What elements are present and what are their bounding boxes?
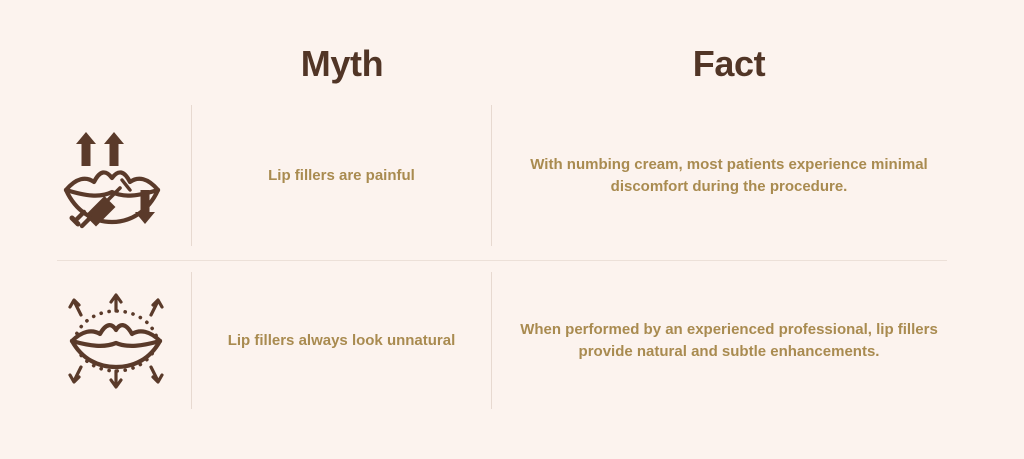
myth-vs-fact-infographic: Myth Fact (0, 0, 1024, 459)
column-header-myth: Myth (192, 44, 492, 84)
fact-text: With numbing cream, most patients experi… (514, 154, 944, 198)
column-header-fact: Fact (492, 44, 966, 84)
fact-cell: When performed by an experienced profess… (492, 272, 966, 409)
myth-cell: Lip fillers always look unnatural (192, 272, 491, 409)
table-row: Lip fillers always look unnatural When p… (0, 272, 1024, 409)
myth-text: Lip fillers are painful (222, 165, 462, 187)
table-header: Myth Fact (0, 44, 1024, 102)
table-row: Lip fillers are painful With numbing cre… (0, 105, 1024, 246)
myth-cell: Lip fillers are painful (192, 105, 491, 246)
row-icon-cell (40, 105, 191, 246)
divider-horizontal-rows (57, 260, 947, 261)
fact-text: When performed by an experienced profess… (514, 319, 944, 363)
row-icon-cell (40, 272, 191, 409)
myth-text: Lip fillers always look unnatural (222, 330, 462, 352)
lips-dashed-outline-arrows-icon (60, 285, 172, 397)
lips-syringe-arrows-icon (60, 120, 172, 232)
fact-cell: With numbing cream, most patients experi… (492, 105, 966, 246)
